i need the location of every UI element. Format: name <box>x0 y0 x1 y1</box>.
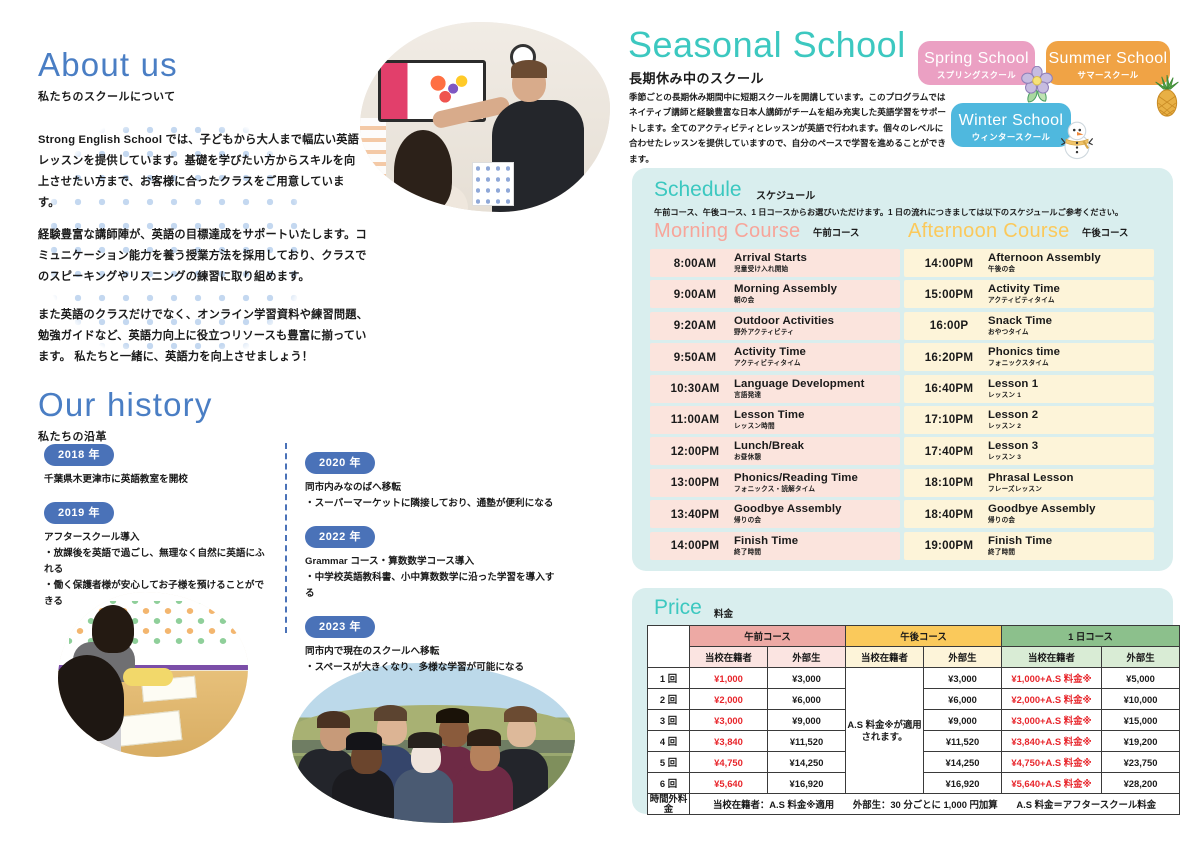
afternoon-course-header: Afternoon Course 午後コース <box>908 220 1128 243</box>
price-afternoon-internal-note: A.S 料金※が適用されます。 <box>846 668 924 794</box>
snowman-icon <box>1060 119 1094 165</box>
schedule-time: 17:40PM <box>910 445 988 458</box>
price-morning-internal: ¥5,640 <box>690 773 768 794</box>
price-sub-header: 当校在籍者 <box>690 647 768 668</box>
schedule-activity: Phonics/Reading Timeフォニックス・読解タイム <box>734 472 858 494</box>
schedule-row: 14:00PMAfternoon Assembly午後の会 <box>904 249 1154 277</box>
seasonal-school-subtitle: 長期休み中のスクール <box>629 68 764 87</box>
schedule-activity: Snack Timeおやつタイム <box>988 315 1052 337</box>
schedule-card: Schedule スケジュール 午前コース、午後コース、1 日コースからお選びい… <box>632 168 1173 571</box>
schedule-time: 13:40PM <box>656 508 734 521</box>
schedule-activity: Goodbye Assembly帰りの会 <box>734 503 842 525</box>
schedule-activity-jp: レッスン 1 <box>988 391 1038 400</box>
schedule-activity: Activity Timeアクティビティタイム <box>988 283 1060 305</box>
schedule-time: 8:00AM <box>656 257 734 270</box>
schedule-row: 16:40PMLesson 1レッスン 1 <box>904 375 1154 403</box>
price-fullday-external: ¥10,000 <box>1102 689 1180 710</box>
schedule-row: 18:10PMPhrasal Lessonフレーズレッスン <box>904 469 1154 497</box>
schedule-activity-jp: フォニックスタイム <box>988 359 1060 368</box>
price-sub-header: 外部生 <box>1102 647 1180 668</box>
price-fullday-internal: ¥1,000+A.S 料金※ <box>1002 668 1102 689</box>
about-paragraph-2: 経験豊富な講師陣が、英語の目標達成をサポートいたします。コミュニケーション能力を… <box>38 225 368 288</box>
price-fullday-internal: ¥3,000+A.S 料金※ <box>1002 710 1102 731</box>
price-morning-internal: ¥4,750 <box>690 752 768 773</box>
schedule-activity-jp: おやつタイム <box>988 328 1052 337</box>
price-footer-row: 時間外料金当校在籍者：A.S 料金※適用 外部生：30 分ごとに 1,000 円… <box>648 794 1180 815</box>
afternoon-course-jp: 午後コース <box>1082 225 1128 239</box>
price-title: Price <box>654 596 702 620</box>
schedule-activity-en: Lesson Time <box>734 409 805 422</box>
schedule-activity: Phonics timeフォニックスタイム <box>988 346 1060 368</box>
badge-summer-en: Summer School <box>1046 50 1170 68</box>
price-afternoon-external: ¥9,000 <box>924 710 1002 731</box>
badge-winter-jp: ウィンタースクール <box>951 131 1071 143</box>
price-row-label: 1 回 <box>648 668 690 689</box>
classroom-teacher-photo <box>360 22 610 212</box>
badge-spring-en: Spring School <box>918 50 1035 68</box>
schedule-activity-en: Morning Assembly <box>734 283 837 296</box>
schedule-activity-en: Afternoon Assembly <box>988 252 1101 265</box>
schedule-activity-jp: 終了時間 <box>734 548 798 557</box>
schedule-activity-en: Language Development <box>734 378 864 391</box>
schedule-activity-en: Phonics/Reading Time <box>734 472 858 485</box>
schedule-time: 13:00PM <box>656 476 734 489</box>
schedule-row: 10:30AMLanguage Development言語発達 <box>650 375 900 403</box>
price-morning-internal: ¥3,000 <box>690 710 768 731</box>
history-column-right: 2020 年同市内みなのばへ移転・スーパーマーケットに隣接しており、通塾が便利に… <box>305 445 555 690</box>
price-group-afternoon: 午後コース <box>846 626 1002 647</box>
price-sub-header: 当校在籍者 <box>846 647 924 668</box>
price-sub-header: 外部生 <box>768 647 846 668</box>
schedule-activity-jp: レッスン 2 <box>988 422 1038 431</box>
schedule-activity-en: Phrasal Lesson <box>988 472 1074 485</box>
schedule-activity-en: Outdoor Activities <box>734 315 834 328</box>
price-fullday-internal: ¥5,640+A.S 料金※ <box>1002 773 1102 794</box>
price-row-label: 4 回 <box>648 731 690 752</box>
pineapple-icon <box>1152 75 1182 117</box>
schedule-activity-jp: 野外アクティビティ <box>734 328 834 337</box>
price-fullday-internal: ¥3,840+A.S 料金※ <box>1002 731 1102 752</box>
morning-course-header: Morning Course 午前コース <box>654 220 859 243</box>
price-sub-header-row: 当校在籍者外部生当校在籍者外部生当校在籍者外部生 <box>648 647 1180 668</box>
about-us-section: About us 私たちのスクールについて <box>38 46 368 104</box>
schedule-activity: Phrasal Lessonフレーズレッスン <box>988 472 1074 494</box>
price-fullday-external: ¥19,200 <box>1102 731 1180 752</box>
schedule-row: 17:10PMLesson 2レッスン 2 <box>904 406 1154 434</box>
schedule-activity: Lesson Timeレッスン時間 <box>734 409 805 431</box>
price-footer-label: 時間外料金 <box>648 794 690 815</box>
history-entry-text: 千葉県木更津市に英語教室を開校 <box>44 472 269 488</box>
price-morning-external: ¥11,520 <box>768 731 846 752</box>
schedule-activity: Lesson 1レッスン 1 <box>988 378 1038 400</box>
our-history-section: Our history 私たちの沿革 <box>38 386 368 444</box>
schedule-activity-en: Activity Time <box>734 346 806 359</box>
schedule-time: 12:00PM <box>656 445 734 458</box>
price-afternoon-external: ¥16,920 <box>924 773 1002 794</box>
schedule-activity: Lesson 2レッスン 2 <box>988 409 1038 431</box>
price-fullday-external: ¥28,200 <box>1102 773 1180 794</box>
about-paragraph-3: また英語のクラスだけでなく、オンライン学習資料や練習問題、勉強ガイドなど、英語力… <box>38 305 368 368</box>
schedule-row: 11:00AMLesson Timeレッスン時間 <box>650 406 900 434</box>
price-afternoon-external: ¥3,000 <box>924 668 1002 689</box>
seasonal-school-body: 季節ごとの長期休み期間中に短期スクールを開講しています。このプログラムではネイテ… <box>629 90 949 167</box>
schedule-row: 16:00PSnack Timeおやつタイム <box>904 312 1154 340</box>
schedule-row: 15:00PMActivity Timeアクティビティタイム <box>904 280 1154 308</box>
left-page: About us 私たちのスクールについて Strong English Sch… <box>0 0 596 842</box>
history-column-left: 2018 年千葉県木更津市に英語教室を開校2019 年アフタースクール導入・放課… <box>44 437 269 624</box>
about-paragraph-1: Strong English School では、子どもから大人まで幅広い英語レ… <box>38 130 363 214</box>
schedule-row: 17:40PMLesson 3レッスン 3 <box>904 437 1154 465</box>
history-year-pill: 2020 年 <box>305 452 375 474</box>
flower-icon <box>1020 66 1054 104</box>
schedule-activity: Finish Time終了時間 <box>988 535 1052 557</box>
badge-winter-en: Winter School <box>951 112 1071 130</box>
schedule-row: 12:00PMLunch/Breakお昼休憩 <box>650 437 900 465</box>
price-row-label: 5 回 <box>648 752 690 773</box>
schedule-activity-jp: 午後の会 <box>988 265 1101 274</box>
schedule-row: 8:00AMArrival Starts児童受け入れ開始 <box>650 249 900 277</box>
schedule-activity-en: Activity Time <box>988 283 1060 296</box>
schedule-time: 18:10PM <box>910 476 988 489</box>
price-title-jp: 料金 <box>714 606 733 620</box>
history-entry-text: アフタースクール導入・放課後を英語で過ごし、無理なく自然に英語にふれる・働く保護… <box>44 530 269 610</box>
price-footer-text: 当校在籍者：A.S 料金※適用 外部生：30 分ごとに 1,000 円加算 A.… <box>690 794 1180 815</box>
price-morning-external: ¥16,920 <box>768 773 846 794</box>
schedule-activity-en: Lesson 2 <box>988 409 1038 422</box>
schedule-activity-jp: レッスン 3 <box>988 453 1038 462</box>
price-afternoon-external: ¥11,520 <box>924 731 1002 752</box>
schedule-row: 18:40PMGoodbye Assembly帰りの会 <box>904 500 1154 528</box>
schedule-time: 18:40PM <box>910 508 988 521</box>
price-morning-internal: ¥1,000 <box>690 668 768 689</box>
price-fullday-external: ¥23,750 <box>1102 752 1180 773</box>
schedule-activity-en: Lesson 1 <box>988 378 1038 391</box>
seasonal-school-title: Seasonal School <box>628 24 906 66</box>
schedule-row: 13:00PMPhonics/Reading Timeフォニックス・読解タイム <box>650 469 900 497</box>
schedule-activity: Language Development言語発達 <box>734 378 864 400</box>
price-morning-internal: ¥2,000 <box>690 689 768 710</box>
schedule-activity-en: Arrival Starts <box>734 252 807 265</box>
history-entry-text: 同市内みなのばへ移転・スーパーマーケットに隣接しており、通塾が便利になる <box>305 480 555 512</box>
schedule-activity-en: Finish Time <box>988 535 1052 548</box>
price-morning-external: ¥9,000 <box>768 710 846 731</box>
schedule-activity-jp: フレーズレッスン <box>988 485 1074 494</box>
schedule-time: 19:00PM <box>910 539 988 552</box>
schedule-time: 16:20PM <box>910 351 988 364</box>
schedule-row: 9:00AMMorning Assembly朝の会 <box>650 280 900 308</box>
price-morning-external: ¥14,250 <box>768 752 846 773</box>
schedule-time: 10:30AM <box>656 382 734 395</box>
price-fullday-external: ¥5,000 <box>1102 668 1180 689</box>
schedule-activity: Outdoor Activities野外アクティビティ <box>734 315 834 337</box>
morning-schedule-list: 8:00AMArrival Starts児童受け入れ開始9:00AMMornin… <box>650 249 900 563</box>
price-fullday-internal: ¥2,000+A.S 料金※ <box>1002 689 1102 710</box>
price-group-header-row: 午前コース午後コース1 日コース <box>648 626 1180 647</box>
about-us-heading: About us <box>38 46 368 84</box>
price-afternoon-external: ¥14,250 <box>924 752 1002 773</box>
schedule-activity-en: Snack Time <box>988 315 1052 328</box>
price-card: Price 料金 午前コース午後コース1 日コース当校在籍者外部生当校在籍者外部… <box>632 588 1173 814</box>
schedule-activity-jp: アクティビティタイム <box>988 296 1060 305</box>
schedule-row: 16:20PMPhonics timeフォニックスタイム <box>904 343 1154 371</box>
price-row: 1 回¥1,000¥3,000A.S 料金※が適用されます。¥3,000¥1,0… <box>648 668 1180 689</box>
schedule-row: 19:00PMFinish Time終了時間 <box>904 532 1154 560</box>
price-table: 午前コース午後コース1 日コース当校在籍者外部生当校在籍者外部生当校在籍者外部生… <box>647 625 1180 815</box>
price-fullday-external: ¥15,000 <box>1102 710 1180 731</box>
schedule-title-jp: スケジュール <box>756 187 815 202</box>
schedule-title: Schedule <box>654 178 742 202</box>
schedule-time: 16:40PM <box>910 382 988 395</box>
schedule-row: 9:20AMOutdoor Activities野外アクティビティ <box>650 312 900 340</box>
schedule-time: 11:00AM <box>656 413 734 426</box>
schedule-activity: Lunch/Breakお昼休憩 <box>734 440 804 462</box>
right-page: Seasonal School 長期休み中のスクール 季節ごとの長期休み期間中に… <box>596 0 1191 842</box>
schedule-activity-en: Goodbye Assembly <box>988 503 1096 516</box>
history-year-pill: 2019 年 <box>44 502 114 524</box>
schedule-description: 午前コース、午後コース、1 日コースからお選びいただけます。1 日の流れにつきま… <box>654 206 1123 218</box>
schedule-time: 9:20AM <box>656 319 734 332</box>
history-year-pill: 2023 年 <box>305 616 375 638</box>
schedule-activity-en: Lunch/Break <box>734 440 804 453</box>
badge-winter-school[interactable]: Winter School ウィンタースクール <box>951 103 1071 147</box>
schedule-activity: Activity Timeアクティビティタイム <box>734 346 806 368</box>
afternoon-course-en: Afternoon Course <box>908 220 1070 243</box>
schedule-time: 14:00PM <box>656 539 734 552</box>
history-year-pill: 2022 年 <box>305 526 375 548</box>
morning-course-jp: 午前コース <box>813 225 859 239</box>
schedule-row: 14:00PMFinish Time終了時間 <box>650 532 900 560</box>
price-corner-cell <box>648 626 690 668</box>
schedule-time: 9:00AM <box>656 288 734 301</box>
schedule-activity-jp: 言語発達 <box>734 391 864 400</box>
schedule-activity-en: Phonics time <box>988 346 1060 359</box>
schedule-activity-jp: 朝の会 <box>734 296 837 305</box>
price-group-fullday: 1 日コース <box>1002 626 1180 647</box>
badge-spring-jp: スプリングスクール <box>918 69 1035 81</box>
price-morning-internal: ¥3,840 <box>690 731 768 752</box>
price-sub-header: 当校在籍者 <box>1002 647 1102 668</box>
schedule-time: 15:00PM <box>910 288 988 301</box>
price-row-label: 2 回 <box>648 689 690 710</box>
schedule-activity-jp: 帰りの会 <box>988 516 1096 525</box>
price-row-label: 6 回 <box>648 773 690 794</box>
schedule-activity-jp: レッスン時間 <box>734 422 805 431</box>
schedule-activity-jp: フォニックス・読解タイム <box>734 485 858 494</box>
price-fullday-internal: ¥4,750+A.S 料金※ <box>1002 752 1102 773</box>
history-year-pill: 2018 年 <box>44 444 114 466</box>
schedule-row: 9:50AMActivity Timeアクティビティタイム <box>650 343 900 371</box>
price-group-morning: 午前コース <box>690 626 846 647</box>
price-row-label: 3 回 <box>648 710 690 731</box>
afternoon-schedule-list: 14:00PMAfternoon Assembly午後の会15:00PMActi… <box>904 249 1154 563</box>
schedule-activity-en: Finish Time <box>734 535 798 548</box>
schedule-time: 17:10PM <box>910 413 988 426</box>
schedule-time: 16:00P <box>910 319 988 332</box>
price-morning-external: ¥3,000 <box>768 668 846 689</box>
schedule-row: 13:40PMGoodbye Assembly帰りの会 <box>650 500 900 528</box>
schedule-activity: Arrival Starts児童受け入れ開始 <box>734 252 807 274</box>
schedule-time: 14:00PM <box>910 257 988 270</box>
history-divider <box>285 443 287 633</box>
schedule-activity-jp: 終了時間 <box>988 548 1052 557</box>
price-morning-external: ¥6,000 <box>768 689 846 710</box>
price-afternoon-external: ¥6,000 <box>924 689 1002 710</box>
schedule-time: 9:50AM <box>656 351 734 364</box>
schedule-activity: Goodbye Assembly帰りの会 <box>988 503 1096 525</box>
schedule-activity-jp: アクティビティタイム <box>734 359 806 368</box>
badge-spring-school[interactable]: Spring School スプリングスクール <box>918 41 1035 85</box>
schedule-activity: Afternoon Assembly午後の会 <box>988 252 1101 274</box>
schedule-activity: Finish Time終了時間 <box>734 535 798 557</box>
history-entry-text: Grammar コース・算数数学コース導入・中学校英語教科書、小中算数数学に沿っ… <box>305 554 555 602</box>
schedule-activity: Lesson 3レッスン 3 <box>988 440 1038 462</box>
our-history-heading: Our history <box>38 386 368 424</box>
schedule-activity-en: Goodbye Assembly <box>734 503 842 516</box>
price-sub-header: 外部生 <box>924 647 1002 668</box>
schedule-activity-jp: お昼休憩 <box>734 453 804 462</box>
schedule-activity-en: Lesson 3 <box>988 440 1038 453</box>
about-us-subheading: 私たちのスクールについて <box>38 88 368 104</box>
history-entry-text: 同市内で現在のスクールへ移転・スペースが大きくなり、多様な学習が可能になる <box>305 644 555 676</box>
schedule-activity-jp: 児童受け入れ開始 <box>734 265 807 274</box>
morning-course-en: Morning Course <box>654 220 801 243</box>
schedule-activity-jp: 帰りの会 <box>734 516 842 525</box>
schedule-activity: Morning Assembly朝の会 <box>734 283 837 305</box>
